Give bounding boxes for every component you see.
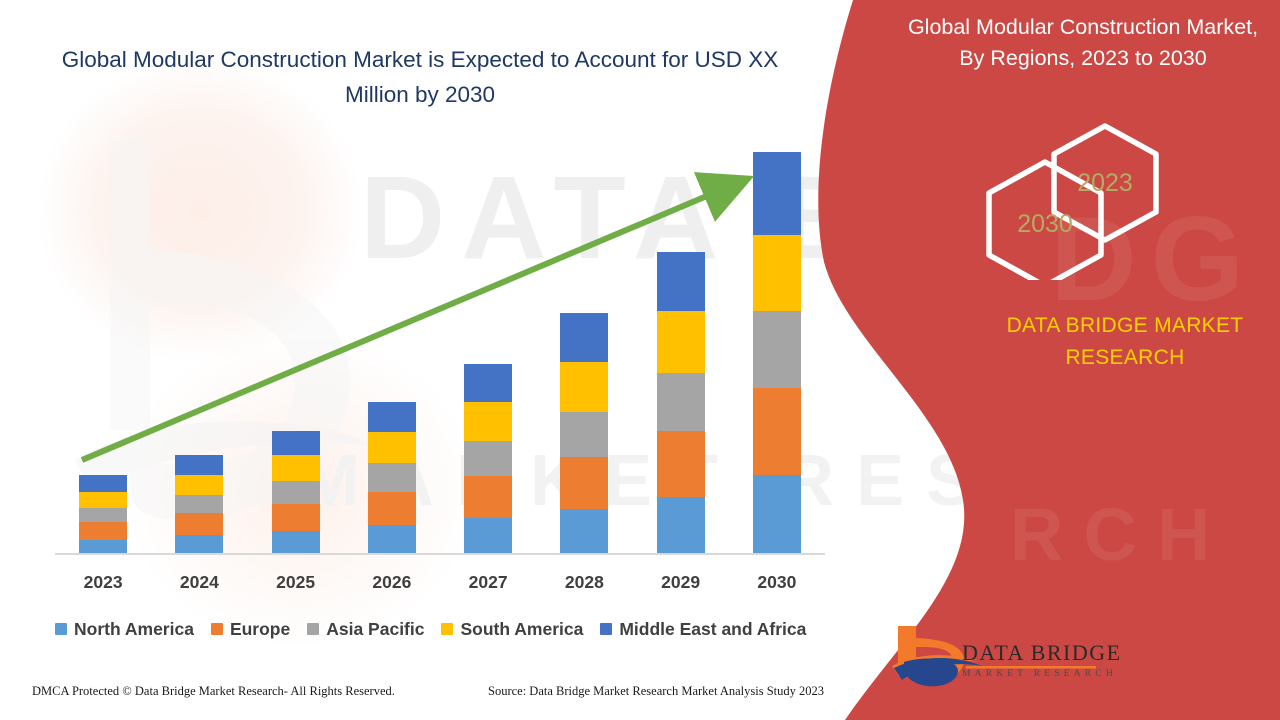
bar-segment[interactable] [368,525,416,555]
bar-column[interactable] [55,475,151,555]
stacked-bar[interactable] [272,431,320,555]
infographic-canvas: DATA BRIDGE MARKET RESEARCH Global Modul… [0,0,1280,720]
stacked-bar[interactable] [368,402,416,555]
x-axis-label: 2026 [344,572,440,593]
legend-item[interactable]: North America [55,619,194,640]
page-title: Global Modular Construction Market is Ex… [40,42,800,112]
x-axis-label: 2024 [151,572,247,593]
legend-label: Europe [230,619,290,640]
bar-segment[interactable] [464,402,512,441]
legend-swatch-icon [307,623,319,635]
legend-label: Middle East and Africa [619,619,806,640]
bar-column[interactable] [151,455,247,555]
bar-segment[interactable] [272,481,320,504]
x-axis-label: 2030 [729,572,825,593]
bar-segment[interactable] [79,475,127,491]
chart-legend: North AmericaEuropeAsia PacificSouth Ame… [55,616,830,642]
bar-segment[interactable] [272,531,320,555]
brand-name: DATA BRIDGE MARKET RESEARCH [960,310,1280,374]
bar-segment[interactable] [657,431,705,497]
legend-swatch-icon [600,623,612,635]
x-axis-label: 2023 [55,572,151,593]
legend-item[interactable]: Europe [211,619,290,640]
legend-item[interactable]: Asia Pacific [307,619,424,640]
legend-item[interactable]: Middle East and Africa [600,619,806,640]
bar-segment[interactable] [464,441,512,476]
bar-segment[interactable] [368,402,416,433]
bar-segment[interactable] [368,492,416,526]
bar-segment[interactable] [657,252,705,311]
bar-column[interactable] [440,364,536,556]
stacked-bar[interactable] [657,252,705,555]
bar-segment[interactable] [464,518,512,555]
bar-segment[interactable] [272,504,320,531]
bar-segment[interactable] [753,388,801,476]
bar-column[interactable] [633,252,729,555]
bar-column[interactable] [248,431,344,555]
stacked-bar[interactable] [464,364,512,556]
bar-segment[interactable] [175,495,223,514]
bar-segment[interactable] [657,373,705,431]
hex-label-2030: 2030 [1009,210,1081,239]
bar-segment[interactable] [560,457,608,510]
bar-segment[interactable] [272,431,320,455]
x-axis-label: 2029 [633,572,729,593]
x-axis-labels: 20232024202520262027202820292030 [55,572,825,600]
bar-column[interactable] [729,152,825,555]
legend-label: North America [74,619,194,640]
bar-segment[interactable] [753,152,801,235]
bar-segment[interactable] [175,475,223,495]
stacked-bar[interactable] [175,455,223,555]
hexagon-shapes-icon [975,120,1190,280]
stacked-bar[interactable] [560,313,608,555]
stacked-bar[interactable] [753,152,801,555]
bar-segment[interactable] [464,476,512,518]
footer-source: Source: Data Bridge Market Research Mark… [488,684,824,699]
footer-copyright: DMCA Protected © Data Bridge Market Rese… [32,684,395,699]
stacked-bar-chart [55,150,825,555]
bar-segment[interactable] [657,311,705,373]
legend-label: South America [460,619,583,640]
bar-segment[interactable] [464,364,512,402]
x-axis-label: 2028 [536,572,632,593]
logo-secondary-text: MARKET RESEARCH [962,669,1112,679]
bar-segment[interactable] [753,235,801,311]
bar-segment[interactable] [79,522,127,540]
x-axis-label: 2027 [440,572,536,593]
logo-text-block: DATA BRIDGE MARKET RESEARCH [962,640,1112,679]
panel-title: Global Modular Construction Market, By R… [893,12,1273,74]
bar-segment[interactable] [560,412,608,457]
bar-segment[interactable] [560,509,608,555]
stacked-bar[interactable] [79,475,127,555]
legend-swatch-icon [211,623,223,635]
bar-segment[interactable] [753,475,801,555]
bar-segment[interactable] [175,455,223,475]
bar-segment[interactable] [368,432,416,463]
bar-segment[interactable] [368,463,416,491]
bar-segment[interactable] [560,362,608,411]
bar-segment[interactable] [560,313,608,362]
bar-segment[interactable] [79,492,127,508]
legend-label: Asia Pacific [326,619,424,640]
bar-segment[interactable] [175,513,223,535]
legend-swatch-icon [55,623,67,635]
bar-segment[interactable] [753,311,801,388]
bar-segment[interactable] [657,497,705,555]
logo-primary-text: DATA BRIDGE [962,640,1112,666]
bar-column[interactable] [344,402,440,555]
x-axis-line [55,553,825,555]
bar-column[interactable] [536,313,632,555]
bar-segment[interactable] [79,508,127,522]
x-axis-label: 2025 [248,572,344,593]
hex-label-2023: 2023 [1069,169,1141,198]
legend-item[interactable]: South America [441,619,583,640]
hexagon-badges: 2023 2030 [975,120,1190,280]
legend-swatch-icon [441,623,453,635]
bar-segment[interactable] [272,455,320,480]
